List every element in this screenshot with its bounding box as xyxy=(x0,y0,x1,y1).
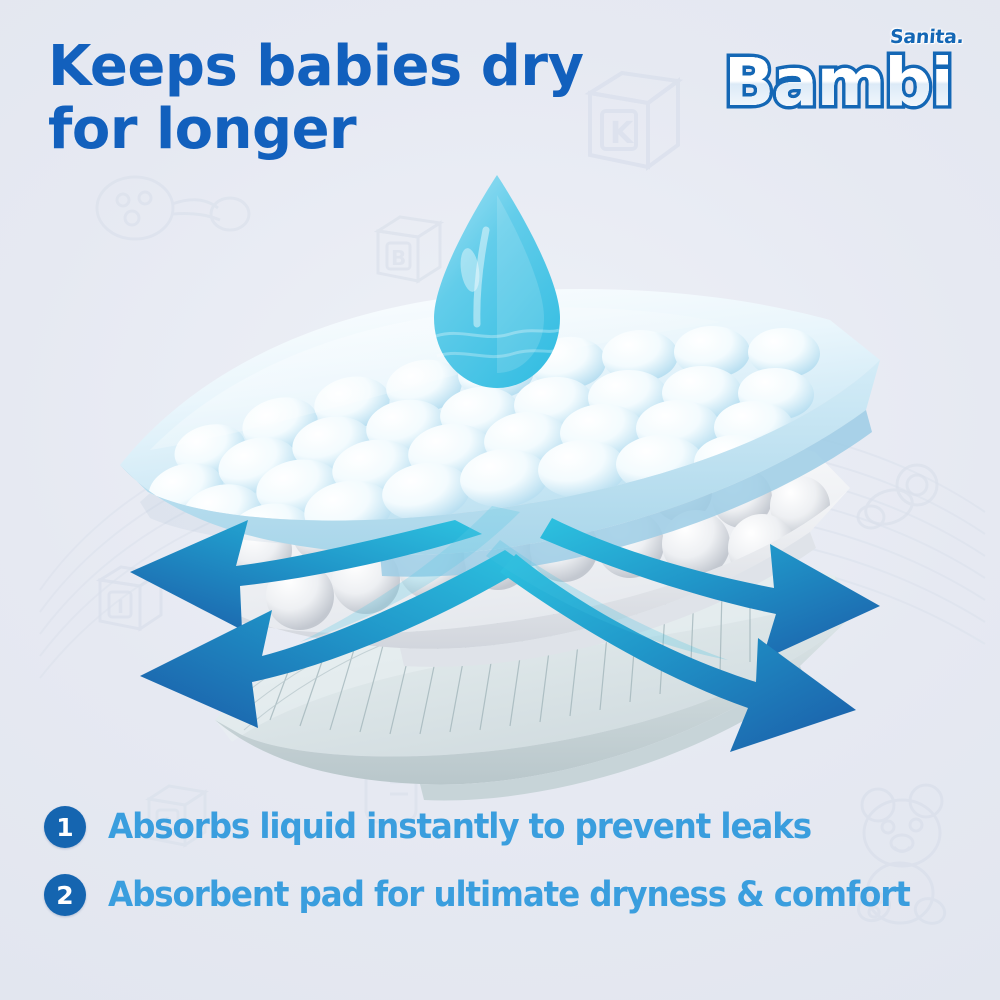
brand-name-fill: Bambi xyxy=(724,44,952,121)
water-droplet xyxy=(434,175,560,388)
bullet-number-badge: 1 xyxy=(44,806,86,848)
bullet-text: Absorbs liquid instantly to prevent leak… xyxy=(108,807,811,847)
list-item: 1 Absorbs liquid instantly to prevent le… xyxy=(44,806,974,848)
diaper-layers-illustration xyxy=(0,120,1000,820)
list-item: 2 Absorbent pad for ultimate dryness & c… xyxy=(44,874,974,916)
feature-list: 1 Absorbs liquid instantly to prevent le… xyxy=(44,806,974,942)
infographic-canvas: K B I xyxy=(0,0,1000,1000)
bullet-text: Absorbent pad for ultimate dryness & com… xyxy=(108,875,910,915)
bullet-number-badge: 2 xyxy=(44,874,86,916)
